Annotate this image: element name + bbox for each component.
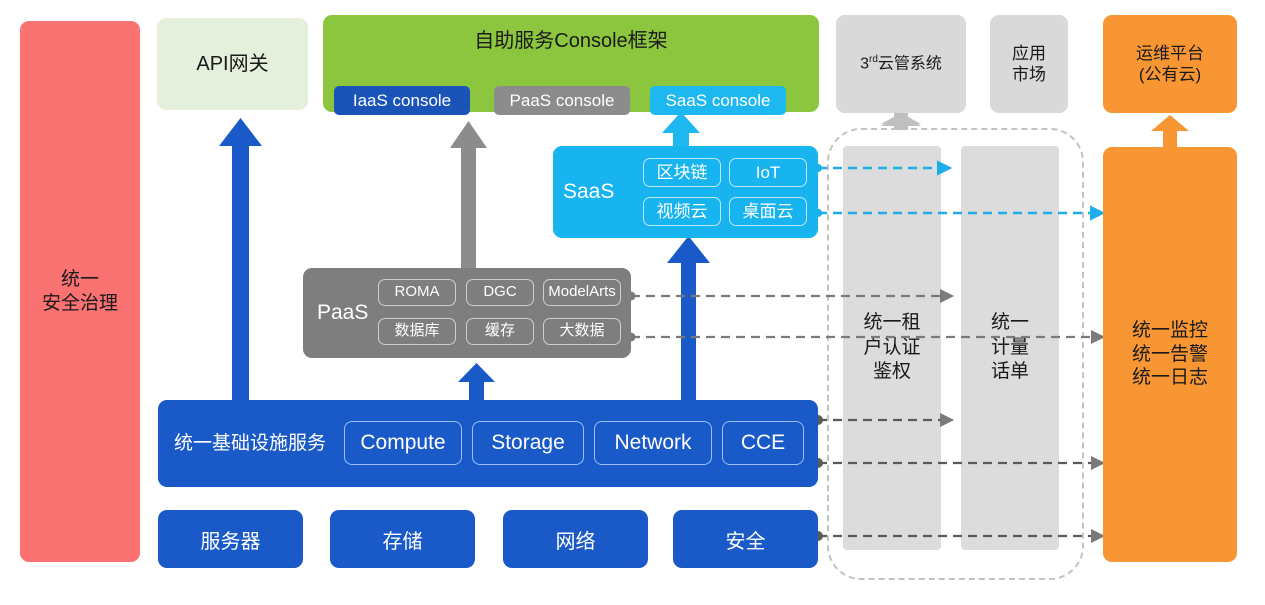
third-party-label: 3rd云管系统 bbox=[860, 54, 942, 74]
arrow-infra-to-saas bbox=[667, 236, 710, 400]
paas-chip-dgc[interactable]: DGC bbox=[466, 279, 534, 306]
chip-iaas-console[interactable]: IaaS console bbox=[334, 86, 470, 115]
infra-chip-network[interactable]: Network bbox=[594, 421, 712, 465]
self-service-console-framework[interactable]: 自助服务Console框架 IaaS console PaaS console … bbox=[323, 15, 819, 112]
infra-chip-compute[interactable]: Compute bbox=[344, 421, 462, 465]
saas-chip-blockchain[interactable]: 区块链 bbox=[643, 158, 721, 187]
saas-chip-iot[interactable]: IoT bbox=[729, 158, 807, 187]
column-unified-metering: 统一 计量 话单 bbox=[961, 146, 1059, 550]
saas-layer-label: SaaS bbox=[563, 179, 614, 205]
app-market-box[interactable]: 应用 市场 bbox=[990, 15, 1068, 113]
arrow-infra-to-api-gateway bbox=[219, 118, 262, 400]
paas-chip-modelarts[interactable]: ModelArts bbox=[543, 279, 621, 306]
architecture-diagram: 统一租 户认证 鉴权 统一 计量 话单 bbox=[0, 0, 1265, 605]
resource-box-security[interactable]: 安全 bbox=[673, 510, 818, 568]
arrow-saas-to-saas-console bbox=[662, 112, 700, 146]
unified-infrastructure-label: 统一基础设施服务 bbox=[174, 432, 326, 456]
ops-platform-public-cloud-box[interactable]: 运维平台 (公有云) bbox=[1103, 15, 1237, 113]
third-party-cloud-management-box[interactable]: 3rd云管系统 bbox=[836, 15, 966, 113]
paas-layer[interactable]: PaaS ROMA DGC ModelArts 数据库 缓存 大数据 bbox=[303, 268, 631, 358]
paas-chip-database[interactable]: 数据库 bbox=[378, 318, 456, 345]
column-unified-tenant-auth: 统一租 户认证 鉴权 bbox=[843, 146, 941, 550]
saas-chip-desktop-cloud[interactable]: 桌面云 bbox=[729, 197, 807, 226]
infra-chip-storage[interactable]: Storage bbox=[472, 421, 584, 465]
paas-chip-roma[interactable]: ROMA bbox=[378, 279, 456, 306]
paas-layer-label: PaaS bbox=[317, 300, 368, 326]
resource-box-network[interactable]: 网络 bbox=[503, 510, 648, 568]
arrow-paas-to-console bbox=[450, 121, 487, 268]
unified-infrastructure-layer[interactable]: 统一基础设施服务 Compute Storage Network CCE bbox=[158, 400, 818, 487]
resource-box-server[interactable]: 服务器 bbox=[158, 510, 303, 568]
saas-chip-video-cloud[interactable]: 视频云 bbox=[643, 197, 721, 226]
chip-paas-console[interactable]: PaaS console bbox=[494, 86, 630, 115]
api-gateway-box[interactable]: API网关 bbox=[157, 18, 308, 110]
chip-saas-console[interactable]: SaaS console bbox=[650, 86, 786, 115]
arrow-monitor-to-ops-platform bbox=[1151, 115, 1189, 147]
console-framework-title: 自助服务Console框架 bbox=[323, 29, 819, 54]
unified-security-governance-panel[interactable]: 统一 安全治理 bbox=[20, 21, 140, 562]
paas-chip-bigdata[interactable]: 大数据 bbox=[543, 318, 621, 345]
resource-box-storage[interactable]: 存储 bbox=[330, 510, 475, 568]
unified-monitoring-alarm-log-panel[interactable]: 统一监控 统一告警 统一日志 bbox=[1103, 147, 1237, 562]
paas-chip-cache[interactable]: 缓存 bbox=[466, 318, 534, 345]
saas-layer[interactable]: SaaS 区块链 IoT 视频云 桌面云 bbox=[553, 146, 818, 238]
arrow-infra-to-paas bbox=[458, 363, 495, 400]
infra-chip-cce[interactable]: CCE bbox=[722, 421, 804, 465]
